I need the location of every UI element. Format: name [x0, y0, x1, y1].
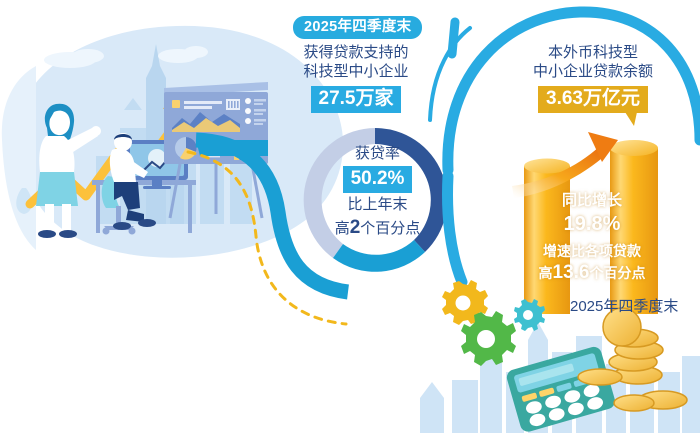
- bar-compare-label: 增速比各项贷款: [506, 243, 678, 261]
- infographic-canvas: 2025年四季度末 获得贷款支持的 科技型中小企业 27.5万家 获贷率 50.…: [0, 0, 700, 433]
- bar-compare-line: 高13.6个百分点: [506, 261, 678, 285]
- center-date-badge: 2025年四季度末: [293, 16, 418, 39]
- center-subtitle-line2: 科技型中小企业: [282, 63, 430, 82]
- donut-label: 获贷率: [315, 145, 440, 164]
- donut-center-text: 获贷率 50.2% 比上年末 高2个百分点: [315, 145, 440, 240]
- donut-compare-line: 比上年末: [315, 196, 440, 215]
- bar-annotations: 同比增长 19.8% 增速比各项贷款 高13.6个百分点: [506, 192, 678, 285]
- right-highlight-value: 3.63万亿元: [538, 86, 648, 113]
- right-title-line2: 中小企业贷款余额: [508, 63, 678, 82]
- bar-growth-label: 同比增长: [506, 192, 678, 211]
- right-title-line1: 本外币科技型: [508, 44, 678, 63]
- bar-compare-prefix: 高: [539, 265, 553, 281]
- bar-compare-value: 13.6: [553, 262, 590, 283]
- bar-compare-suffix: 个百分点: [589, 265, 645, 281]
- donut-delta-suffix: 个百分点: [360, 220, 420, 237]
- center-highlight: 27.5万家: [282, 86, 430, 113]
- center-subtitle-line1: 获得贷款支持的: [282, 44, 430, 63]
- bar-growth-value: 19.8%: [506, 212, 678, 237]
- donut-delta-prefix: 高: [335, 220, 350, 237]
- center-date-badge-label: 2025年四季度末: [293, 16, 422, 39]
- center-highlight-value: 27.5万家: [311, 86, 402, 113]
- donut-delta-value: 2: [350, 217, 361, 238]
- right-title: 本外币科技型 中小企业贷款余额: [508, 44, 678, 82]
- donut-value: 50.2%: [343, 166, 413, 193]
- donut-delta-line: 高2个百分点: [315, 216, 440, 240]
- right-highlight: 3.63万亿元: [508, 86, 678, 113]
- center-subtitle: 获得贷款支持的 科技型中小企业: [282, 44, 430, 82]
- right-footer-date: 2025年四季度末: [570, 298, 690, 317]
